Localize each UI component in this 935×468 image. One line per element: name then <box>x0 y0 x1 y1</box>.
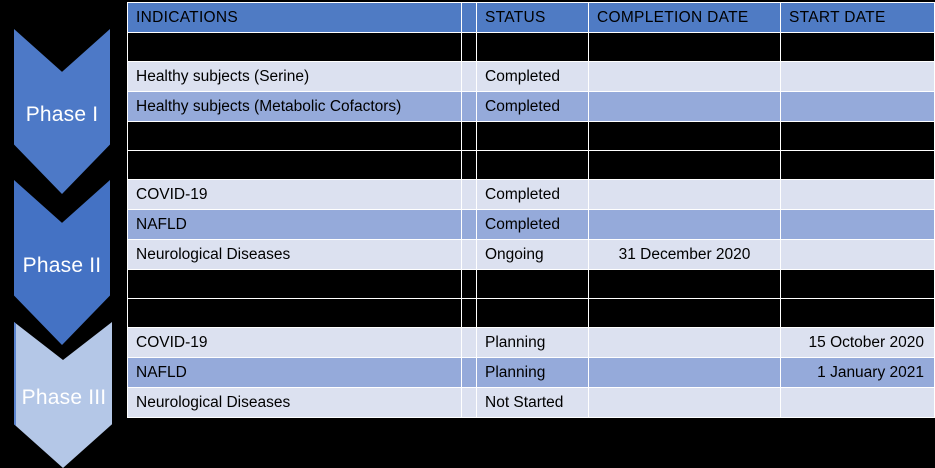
spacer-cell <box>781 151 935 180</box>
spacer-cell <box>589 299 781 328</box>
cell-indication: NAFLD <box>128 358 462 388</box>
column-header-status: STATUS <box>477 3 589 33</box>
table-spacer-row <box>128 122 935 151</box>
cell-spacer <box>462 180 477 210</box>
cell-completion-date <box>589 210 781 240</box>
cell-spacer <box>462 358 477 388</box>
cell-status: Completed <box>477 210 589 240</box>
spacer-cell <box>589 122 781 151</box>
cell-completion-date <box>589 328 781 358</box>
table-row: Neurological DiseasesNot Started <box>128 388 935 418</box>
spacer-cell <box>589 151 781 180</box>
cell-spacer <box>462 210 477 240</box>
cell-indication: Neurological Diseases <box>128 240 462 270</box>
cell-start-date: 1 January 2021 <box>781 358 935 388</box>
spacer-cell <box>462 151 477 180</box>
table-row: Neurological DiseasesOngoing31 December … <box>128 240 935 270</box>
spacer-cell <box>477 299 589 328</box>
table-row: Healthy subjects (Metabolic Cofactors)Co… <box>128 92 935 122</box>
cell-spacer <box>462 240 477 270</box>
spacer-cell <box>128 299 462 328</box>
table-body: Healthy subjects (Serine)CompletedHealth… <box>128 33 935 418</box>
spacer-cell <box>781 299 935 328</box>
table-spacer-row <box>128 299 935 328</box>
spacer-cell <box>128 270 462 299</box>
cell-completion-date <box>589 92 781 122</box>
cell-status: Completed <box>477 180 589 210</box>
spacer-cell <box>589 33 781 62</box>
phase-timeline-diagram: Phase I Phase II Phase III INDICATIONS S… <box>0 0 935 468</box>
table-header-row: INDICATIONS STATUS COMPLETION DATE START… <box>128 3 935 33</box>
table-row: COVID-19Planning15 October 2020 <box>128 328 935 358</box>
cell-start-date <box>781 388 935 418</box>
phase-arrow-1-label: Phase I <box>26 103 99 127</box>
table-row: COVID-19Completed <box>128 180 935 210</box>
cell-indication: Healthy subjects (Serine) <box>128 62 462 92</box>
table-row: Healthy subjects (Serine)Completed <box>128 62 935 92</box>
cell-start-date <box>781 180 935 210</box>
cell-completion-date <box>589 180 781 210</box>
table-spacer-row <box>128 270 935 299</box>
cell-start-date <box>781 210 935 240</box>
phase-arrow-3-label: Phase III <box>22 386 107 410</box>
column-header-indications: INDICATIONS <box>128 3 462 33</box>
cell-completion-date <box>589 62 781 92</box>
cell-status: Completed <box>477 92 589 122</box>
spacer-cell <box>128 33 462 62</box>
cell-start-date: 15 October 2020 <box>781 328 935 358</box>
spacer-cell <box>462 299 477 328</box>
cell-spacer <box>462 328 477 358</box>
table-row: NAFLDPlanning1 January 2021 <box>128 358 935 388</box>
spacer-cell <box>462 122 477 151</box>
cell-indication: COVID-19 <box>128 180 462 210</box>
spacer-cell <box>128 151 462 180</box>
cell-spacer <box>462 92 477 122</box>
cell-completion-date <box>589 388 781 418</box>
spacer-cell <box>128 122 462 151</box>
cell-spacer <box>462 388 477 418</box>
spacer-cell <box>589 270 781 299</box>
cell-indication: Healthy subjects (Metabolic Cofactors) <box>128 92 462 122</box>
column-header-start-date: START DATE <box>781 3 935 33</box>
table-row: NAFLDCompleted <box>128 210 935 240</box>
cell-status: Planning <box>477 328 589 358</box>
table-spacer-row <box>128 33 935 62</box>
spacer-cell <box>477 151 589 180</box>
spacer-cell <box>781 33 935 62</box>
cell-indication: COVID-19 <box>128 328 462 358</box>
column-header-spacer <box>462 3 477 33</box>
spacer-cell <box>477 33 589 62</box>
phase-arrow-2-label: Phase II <box>23 254 102 278</box>
spacer-cell <box>477 270 589 299</box>
cell-indication: NAFLD <box>128 210 462 240</box>
cell-status: Not Started <box>477 388 589 418</box>
cell-start-date <box>781 62 935 92</box>
phase-arrow-2: Phase II <box>14 180 110 345</box>
table-spacer-row <box>128 151 935 180</box>
spacer-cell <box>462 270 477 299</box>
cell-start-date <box>781 240 935 270</box>
cell-completion-date: 31 December 2020 <box>589 240 781 270</box>
spacer-cell <box>781 270 935 299</box>
cell-indication: Neurological Diseases <box>128 388 462 418</box>
cell-completion-date <box>589 358 781 388</box>
cell-status: Ongoing <box>477 240 589 270</box>
spacer-cell <box>462 33 477 62</box>
clinical-trials-table: INDICATIONS STATUS COMPLETION DATE START… <box>127 2 935 418</box>
spacer-cell <box>781 122 935 151</box>
cell-spacer <box>462 62 477 92</box>
cell-start-date <box>781 92 935 122</box>
cell-status: Completed <box>477 62 589 92</box>
column-header-completion-date: COMPLETION DATE <box>589 3 781 33</box>
phase-arrow-1: Phase I <box>14 29 110 194</box>
spacer-cell <box>477 122 589 151</box>
cell-status: Planning <box>477 358 589 388</box>
